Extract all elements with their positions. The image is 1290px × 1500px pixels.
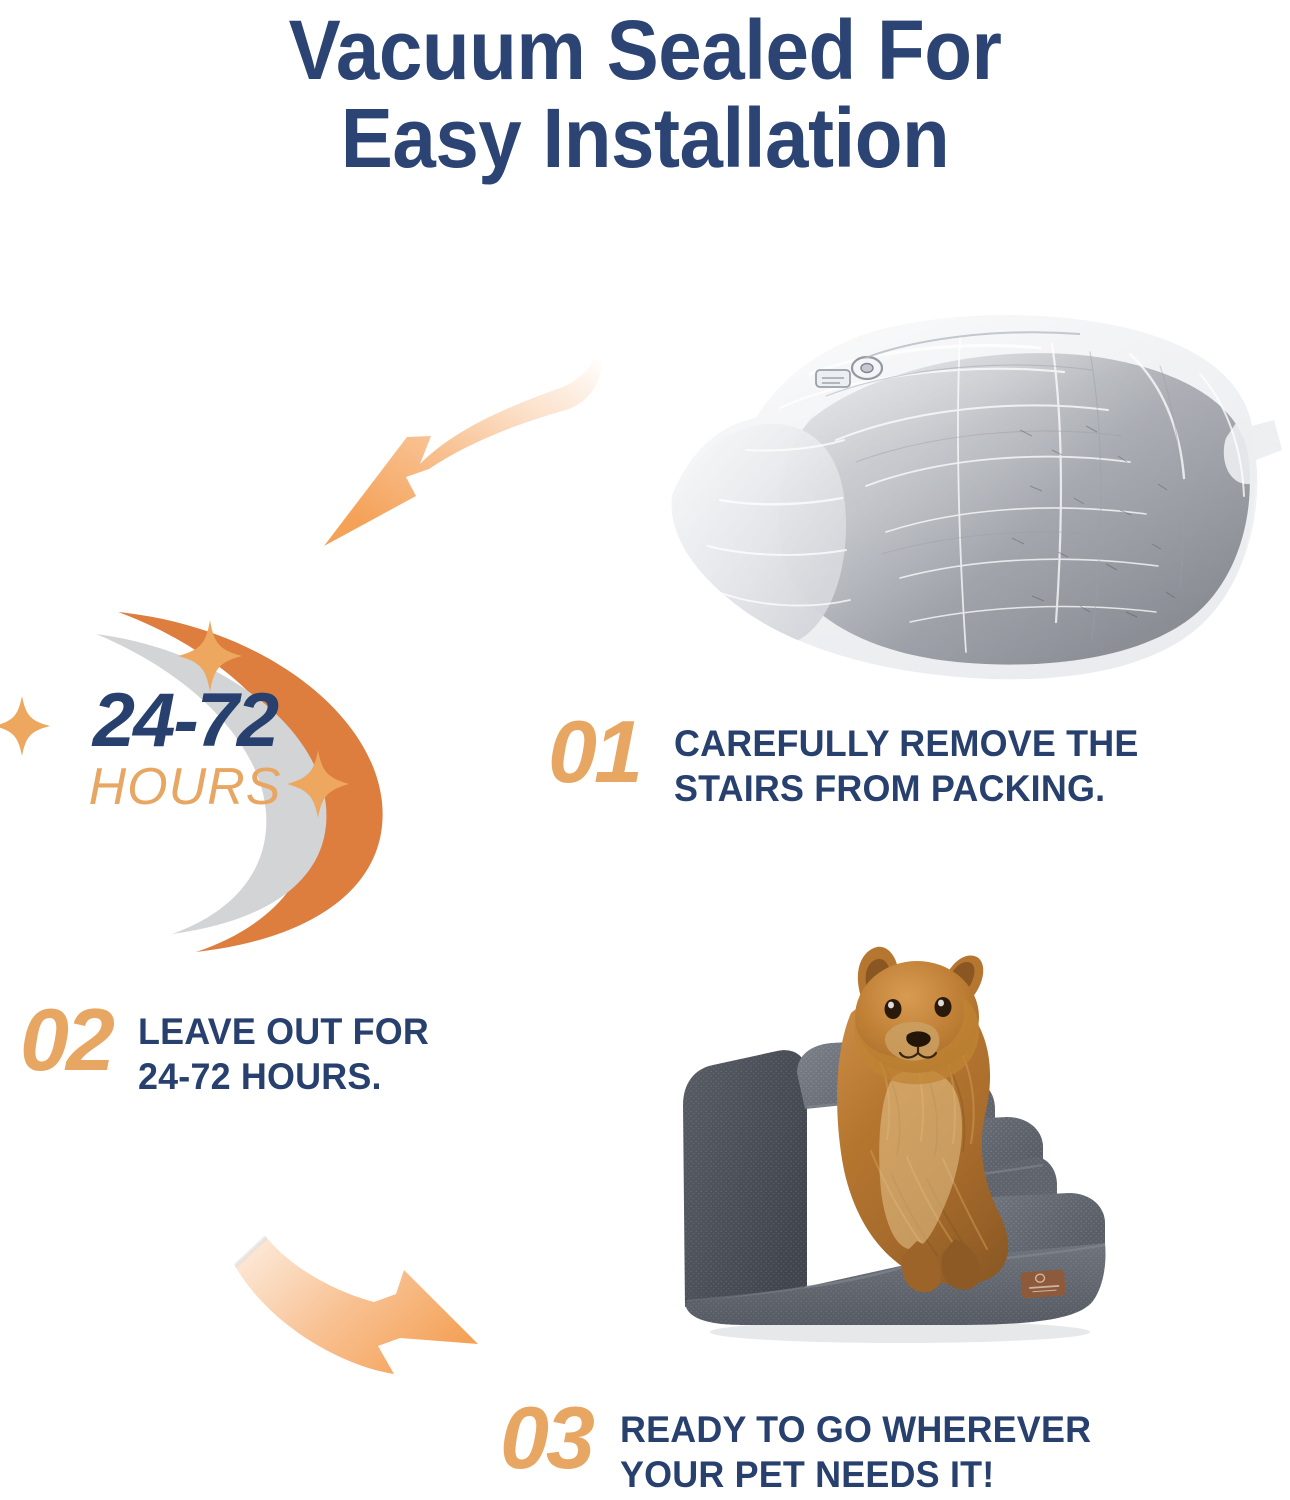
step-number-02: 02	[20, 1000, 112, 1081]
step-item-03: 03 READY TO GO WHEREVER YOUR PET NEEDS I…	[500, 1398, 1240, 1497]
step-label-01-line-1: CAREFULLY REMOVE THE	[674, 723, 1139, 764]
step-item-02: 02 LEAVE OUT FOR 24-72 HOURS.	[20, 1000, 518, 1099]
page-title: Vacuum Sealed For Easy Installation	[45, 6, 1245, 182]
arrow-down-left-icon	[296, 318, 608, 556]
vacuum-sealed-package-photo	[660, 300, 1290, 700]
step-item-01: 01 CAREFULLY REMOVE THE STAIRS FROM PACK…	[548, 712, 1274, 811]
step-label-01-line-2: STAIRS FROM PACKING.	[674, 768, 1105, 809]
step-number-01: 01	[548, 712, 640, 793]
infographic-canvas: Vacuum Sealed For Easy Installation	[0, 0, 1290, 1500]
step-label-02-line-2: 24-72 HOURS.	[138, 1056, 382, 1097]
step-label-01: CAREFULLY REMOVE THE STAIRS FROM PACKING…	[674, 712, 1256, 811]
step-label-03: READY TO GO WHEREVER YOUR PET NEEDS IT!	[620, 1398, 1221, 1497]
dog-on-pet-stairs-photo	[655, 895, 1125, 1345]
page-title-line-2: Easy Installation	[45, 94, 1245, 182]
hours-badge: 24-72 HOURS	[0, 590, 470, 980]
arrow-down-right-icon	[186, 1128, 526, 1384]
brand-tag-icon	[1020, 1269, 1066, 1298]
dog-head	[854, 947, 983, 1084]
sparkle-icon-left	[0, 696, 50, 756]
step-label-02-line-1: LEAVE OUT FOR	[138, 1011, 429, 1052]
step-label-03-line-1: READY TO GO WHEREVER	[620, 1409, 1091, 1450]
step-label-03-line-2: YOUR PET NEEDS IT!	[620, 1454, 994, 1495]
page-title-line-1: Vacuum Sealed For	[45, 6, 1245, 94]
step-number-03: 03	[500, 1398, 592, 1479]
pomeranian-dog	[837, 947, 1008, 1292]
step-label-02: LEAVE OUT FOR 24-72 HOURS.	[138, 1000, 507, 1099]
